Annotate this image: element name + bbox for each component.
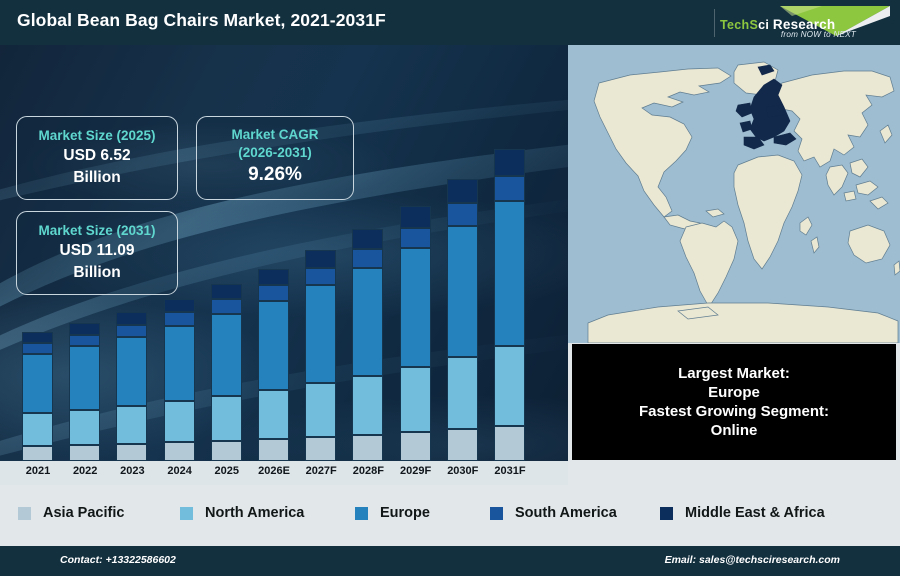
bar-segment [400,248,431,367]
bar-segment [211,299,242,313]
techsci-research-logo: TechSci Research from NOW to NEXT [714,3,892,43]
bar-segment [305,268,336,285]
bar-segment [69,323,100,335]
bar-segment [258,301,289,390]
bar-segment [494,426,525,461]
infographic-poster: Global Bean Bag Chairs Market, 2021-2031… [0,0,900,576]
bar-segment [164,312,195,325]
legend-item[interactable]: Middle East & Africa [660,505,825,521]
bar-segment [447,429,478,461]
bar-segment [447,357,478,429]
bar-segment [447,226,478,357]
chart-panel: Market Size (2025) USD 6.52 Billion Mark… [0,45,568,485]
bar-segment [352,268,383,376]
bar-segment [305,285,336,383]
header-bar: Global Bean Bag Chairs Market, 2021-2031… [0,0,900,45]
bar-column [352,229,383,461]
logo-tech-text: TechS [720,18,758,32]
bar-segment [22,446,53,461]
callout-line-largest-market-label: Largest Market: [678,364,790,383]
bar-segment [447,203,478,226]
bar-segment [211,284,242,299]
bar-segment [305,250,336,268]
bar-segment [494,149,525,175]
bar-segment [211,314,242,396]
bar-segment [258,439,289,461]
legend-swatch-icon [18,507,31,520]
page-title: Global Bean Bag Chairs Market, 2021-2031… [17,10,386,31]
bar-segment [22,354,53,414]
bar-segment [164,401,195,443]
bar-segment [211,396,242,441]
bar-segment [352,249,383,268]
bar-segment [22,343,53,353]
legend-label: North America [205,505,304,521]
legend-swatch-icon [490,507,503,520]
bar-segment [164,442,195,461]
bar-segment [69,410,100,445]
callout-line-fastest-segment-value: Online [711,421,758,440]
legend-item[interactable]: Europe [355,505,430,521]
bar-segment [400,206,431,228]
bar-segment [116,325,147,337]
chart-legend: Asia PacificNorth AmericaEuropeSouth Ame… [0,485,900,541]
bar-segment [494,201,525,346]
legend-swatch-icon [660,507,673,520]
logo-tagline: from NOW to NEXT [781,30,856,39]
world-map [568,45,900,343]
legend-item[interactable]: Asia Pacific [18,505,124,521]
bar-segment [400,367,431,432]
bar-segment [258,285,289,301]
legend-label: Asia Pacific [43,505,124,521]
bar-segment [305,383,336,437]
bar-column [164,299,195,461]
x-axis: 202120222023202420252026E2027F2028F2029F… [0,461,568,485]
callout-line-fastest-segment-label: Fastest Growing Segment: [639,402,829,421]
legend-item[interactable]: North America [180,505,304,521]
bar-segment [352,435,383,461]
bar-segment [400,228,431,249]
bar-segment [116,444,147,461]
x-axis-label: 2031F [482,465,538,477]
bar-column [116,312,147,461]
world-map-svg [568,45,900,343]
legend-label: Middle East & Africa [685,505,825,521]
bar-segment [352,229,383,249]
bar-segment [447,179,478,203]
bar-segment [69,346,100,410]
stacked-bar-chart [0,45,568,485]
bar-segment [22,332,53,343]
bar-column [447,179,478,461]
bar-column [211,284,242,461]
legend-label: Europe [380,505,430,521]
logo-divider [714,9,715,37]
legend-item[interactable]: South America [490,505,617,521]
bar-segment [116,312,147,325]
bar-segment [164,326,195,401]
bar-segment [258,390,289,439]
bar-column [494,149,525,461]
bar-column [258,269,289,461]
bar-column [400,206,431,461]
bar-segment [116,406,147,444]
bar-segment [211,441,242,461]
bar-segment [258,269,289,286]
bar-segment [69,445,100,461]
bar-segment [494,346,525,425]
legend-label: South America [515,505,617,521]
bar-column [22,332,53,461]
bar-segment [494,176,525,201]
bar-segment [116,337,147,406]
bar-segment [305,437,336,461]
bar-segment [352,376,383,435]
bar-segment [22,413,53,446]
bar-segment [69,335,100,346]
legend-swatch-icon [355,507,368,520]
footer-email: Email: sales@techsciresearch.com [665,554,840,566]
callout-line-largest-market-value: Europe [708,383,760,402]
bar-column [69,323,100,461]
bar-column [305,250,336,461]
footer-contact: Contact: +13322586602 [60,554,176,566]
footer-bar: Contact: +13322586602 Email: sales@techs… [0,546,900,576]
bar-segment [400,432,431,461]
callout-box: Largest Market: Europe Fastest Growing S… [572,344,896,460]
bar-segment [164,299,195,313]
legend-swatch-icon [180,507,193,520]
logo-sci-text: ci [758,18,773,32]
